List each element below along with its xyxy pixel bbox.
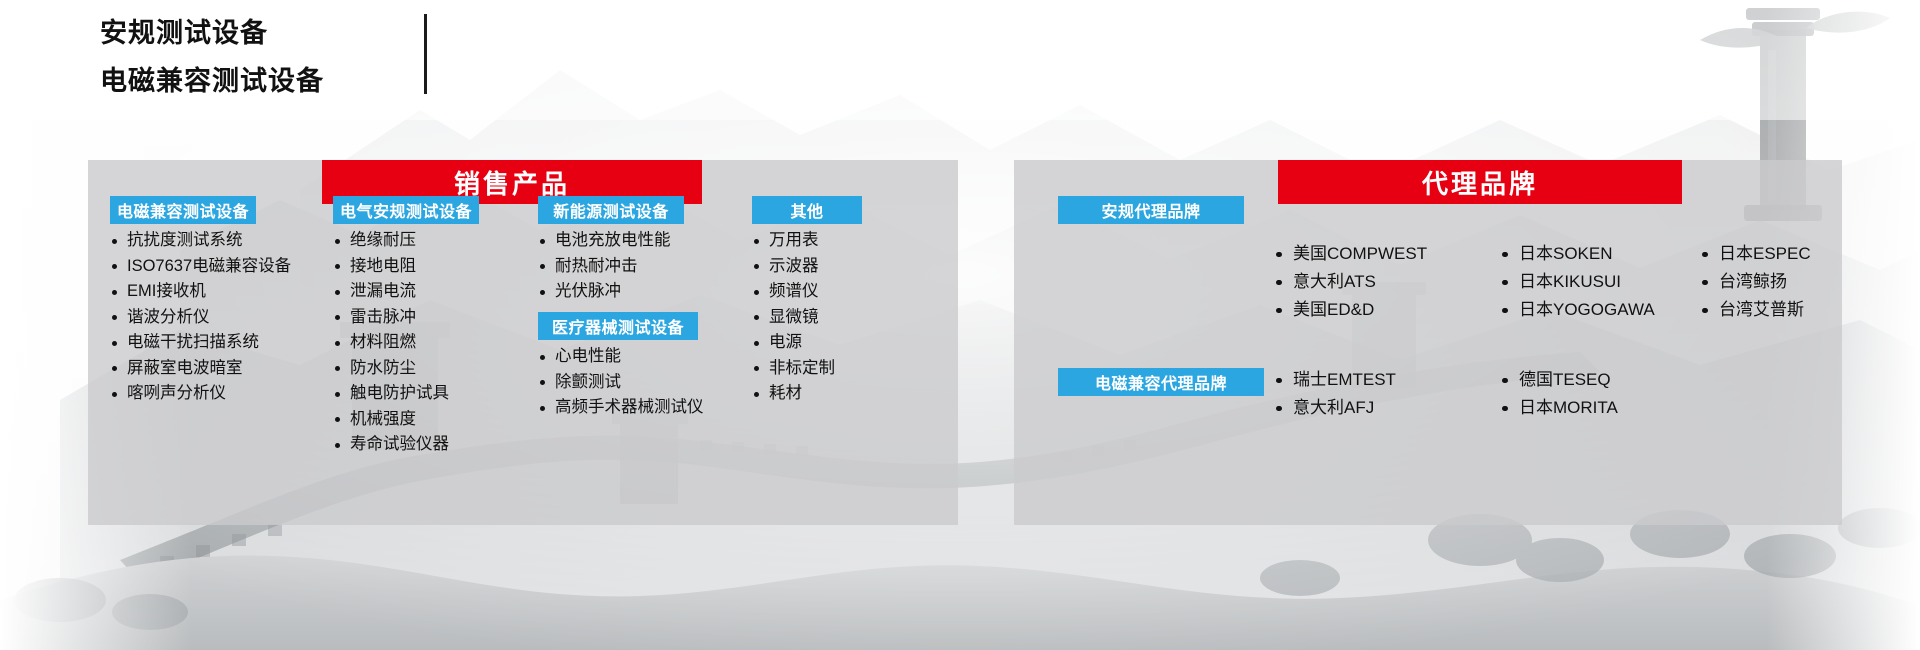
list-item: 耐热耐冲击 xyxy=(538,254,671,280)
list-item: 日本MORITA xyxy=(1500,394,1618,422)
group-header-others[interactable]: 其他 xyxy=(752,196,862,224)
list-item: 光伏脉冲 xyxy=(538,279,671,305)
list-item: 频谱仪 xyxy=(752,279,835,305)
title-line-emc: 电磁兼容测试设备 xyxy=(100,62,430,101)
list-item: 日本YOGOGAWA xyxy=(1500,296,1655,324)
list-item: 高频手术器械测试仪 xyxy=(538,395,704,421)
list-item: 德国TESEQ xyxy=(1500,366,1618,394)
list-item: 意大利AFJ xyxy=(1274,394,1396,422)
list-item: 瑞士EMTEST xyxy=(1274,366,1396,394)
group-header-electrical-safety-test-equipment[interactable]: 电气安规测试设备 xyxy=(333,196,479,224)
list-item: 日本KIKUSUI xyxy=(1500,268,1655,296)
brand-list-emc-col1: 瑞士EMTEST 意大利AFJ xyxy=(1274,366,1396,422)
group-list-electrical-safety-test-equipment: 绝缘耐压 接地电阻 泄漏电流 雷击脉冲 材料阻燃 防水防尘 触电防护试具 机械强… xyxy=(333,228,449,458)
brand-list-safety-col1: 美国COMPWEST 意大利ATS 美国ED&D xyxy=(1274,240,1427,324)
list-item: 接地电阻 xyxy=(333,254,449,280)
list-item: 台湾艾普斯 xyxy=(1700,296,1811,324)
group-list-others: 万用表 示波器 频谱仪 显微镜 电源 非标定制 耗材 xyxy=(752,228,835,407)
list-item: 喀咧声分析仪 xyxy=(110,381,291,407)
list-item: 寿命试验仪器 xyxy=(333,432,449,458)
title-divider-rule xyxy=(424,14,427,94)
list-item: 抗扰度测试系统 xyxy=(110,228,291,254)
list-item: 谐波分析仪 xyxy=(110,305,291,331)
group-header-emc-agency-brands[interactable]: 电磁兼容代理品牌 xyxy=(1058,368,1264,396)
list-item: EMI接收机 xyxy=(110,279,291,305)
list-item: 万用表 xyxy=(752,228,835,254)
list-item: 电源 xyxy=(752,330,835,356)
slide-title-block: 安规测试设备 电磁兼容测试设备 xyxy=(100,14,430,99)
slide-canvas: 安规测试设备 电磁兼容测试设备 销售产品 电磁兼容测试设备 抗扰度测试系统 IS… xyxy=(0,0,1920,650)
brand-list-emc-col2: 德国TESEQ 日本MORITA xyxy=(1500,366,1618,422)
list-item: 除颤测试 xyxy=(538,370,704,396)
list-item: 电池充放电性能 xyxy=(538,228,671,254)
list-item: 意大利ATS xyxy=(1274,268,1427,296)
list-item: 泄漏电流 xyxy=(333,279,449,305)
list-item: 材料阻燃 xyxy=(333,330,449,356)
brand-list-safety-col2: 日本SOKEN 日本KIKUSUI 日本YOGOGAWA xyxy=(1500,240,1655,324)
title-line-safety: 安规测试设备 xyxy=(100,14,430,53)
group-header-safety-agency-brands[interactable]: 安规代理品牌 xyxy=(1058,196,1244,224)
list-item: 防水防尘 xyxy=(333,356,449,382)
group-list-emc-test-equipment: 抗扰度测试系统 ISO7637电磁兼容设备 EMI接收机 谐波分析仪 电磁干扰扫… xyxy=(110,228,291,407)
group-list-new-energy-test-equipment: 电池充放电性能 耐热耐冲击 光伏脉冲 xyxy=(538,228,671,305)
group-header-emc-test-equipment[interactable]: 电磁兼容测试设备 xyxy=(110,196,256,224)
list-item: 美国ED&D xyxy=(1274,296,1427,324)
list-item: 雷击脉冲 xyxy=(333,305,449,331)
list-item: 非标定制 xyxy=(752,356,835,382)
list-item: 日本ESPEC xyxy=(1700,240,1811,268)
list-item: 触电防护试具 xyxy=(333,381,449,407)
list-item: 台湾鲸扬 xyxy=(1700,268,1811,296)
list-item: 心电性能 xyxy=(538,344,704,370)
list-item: 显微镜 xyxy=(752,305,835,331)
list-item: 电磁干扰扫描系统 xyxy=(110,330,291,356)
list-item: 日本SOKEN xyxy=(1500,240,1655,268)
group-header-new-energy-test-equipment[interactable]: 新能源测试设备 xyxy=(538,196,684,224)
list-item: 机械强度 xyxy=(333,407,449,433)
list-item: ISO7637电磁兼容设备 xyxy=(110,254,291,280)
group-header-medical-device-test-equipment[interactable]: 医疗器械测试设备 xyxy=(538,312,698,340)
list-item: 美国COMPWEST xyxy=(1274,240,1427,268)
agency-brands-banner: 代理品牌 xyxy=(1278,160,1682,204)
list-item: 屏蔽室电波暗室 xyxy=(110,356,291,382)
brand-list-safety-col3: 日本ESPEC 台湾鲸扬 台湾艾普斯 xyxy=(1700,240,1811,324)
group-list-medical-device-test-equipment: 心电性能 除颤测试 高频手术器械测试仪 xyxy=(538,344,704,421)
list-item: 示波器 xyxy=(752,254,835,280)
list-item: 绝缘耐压 xyxy=(333,228,449,254)
list-item: 耗材 xyxy=(752,381,835,407)
